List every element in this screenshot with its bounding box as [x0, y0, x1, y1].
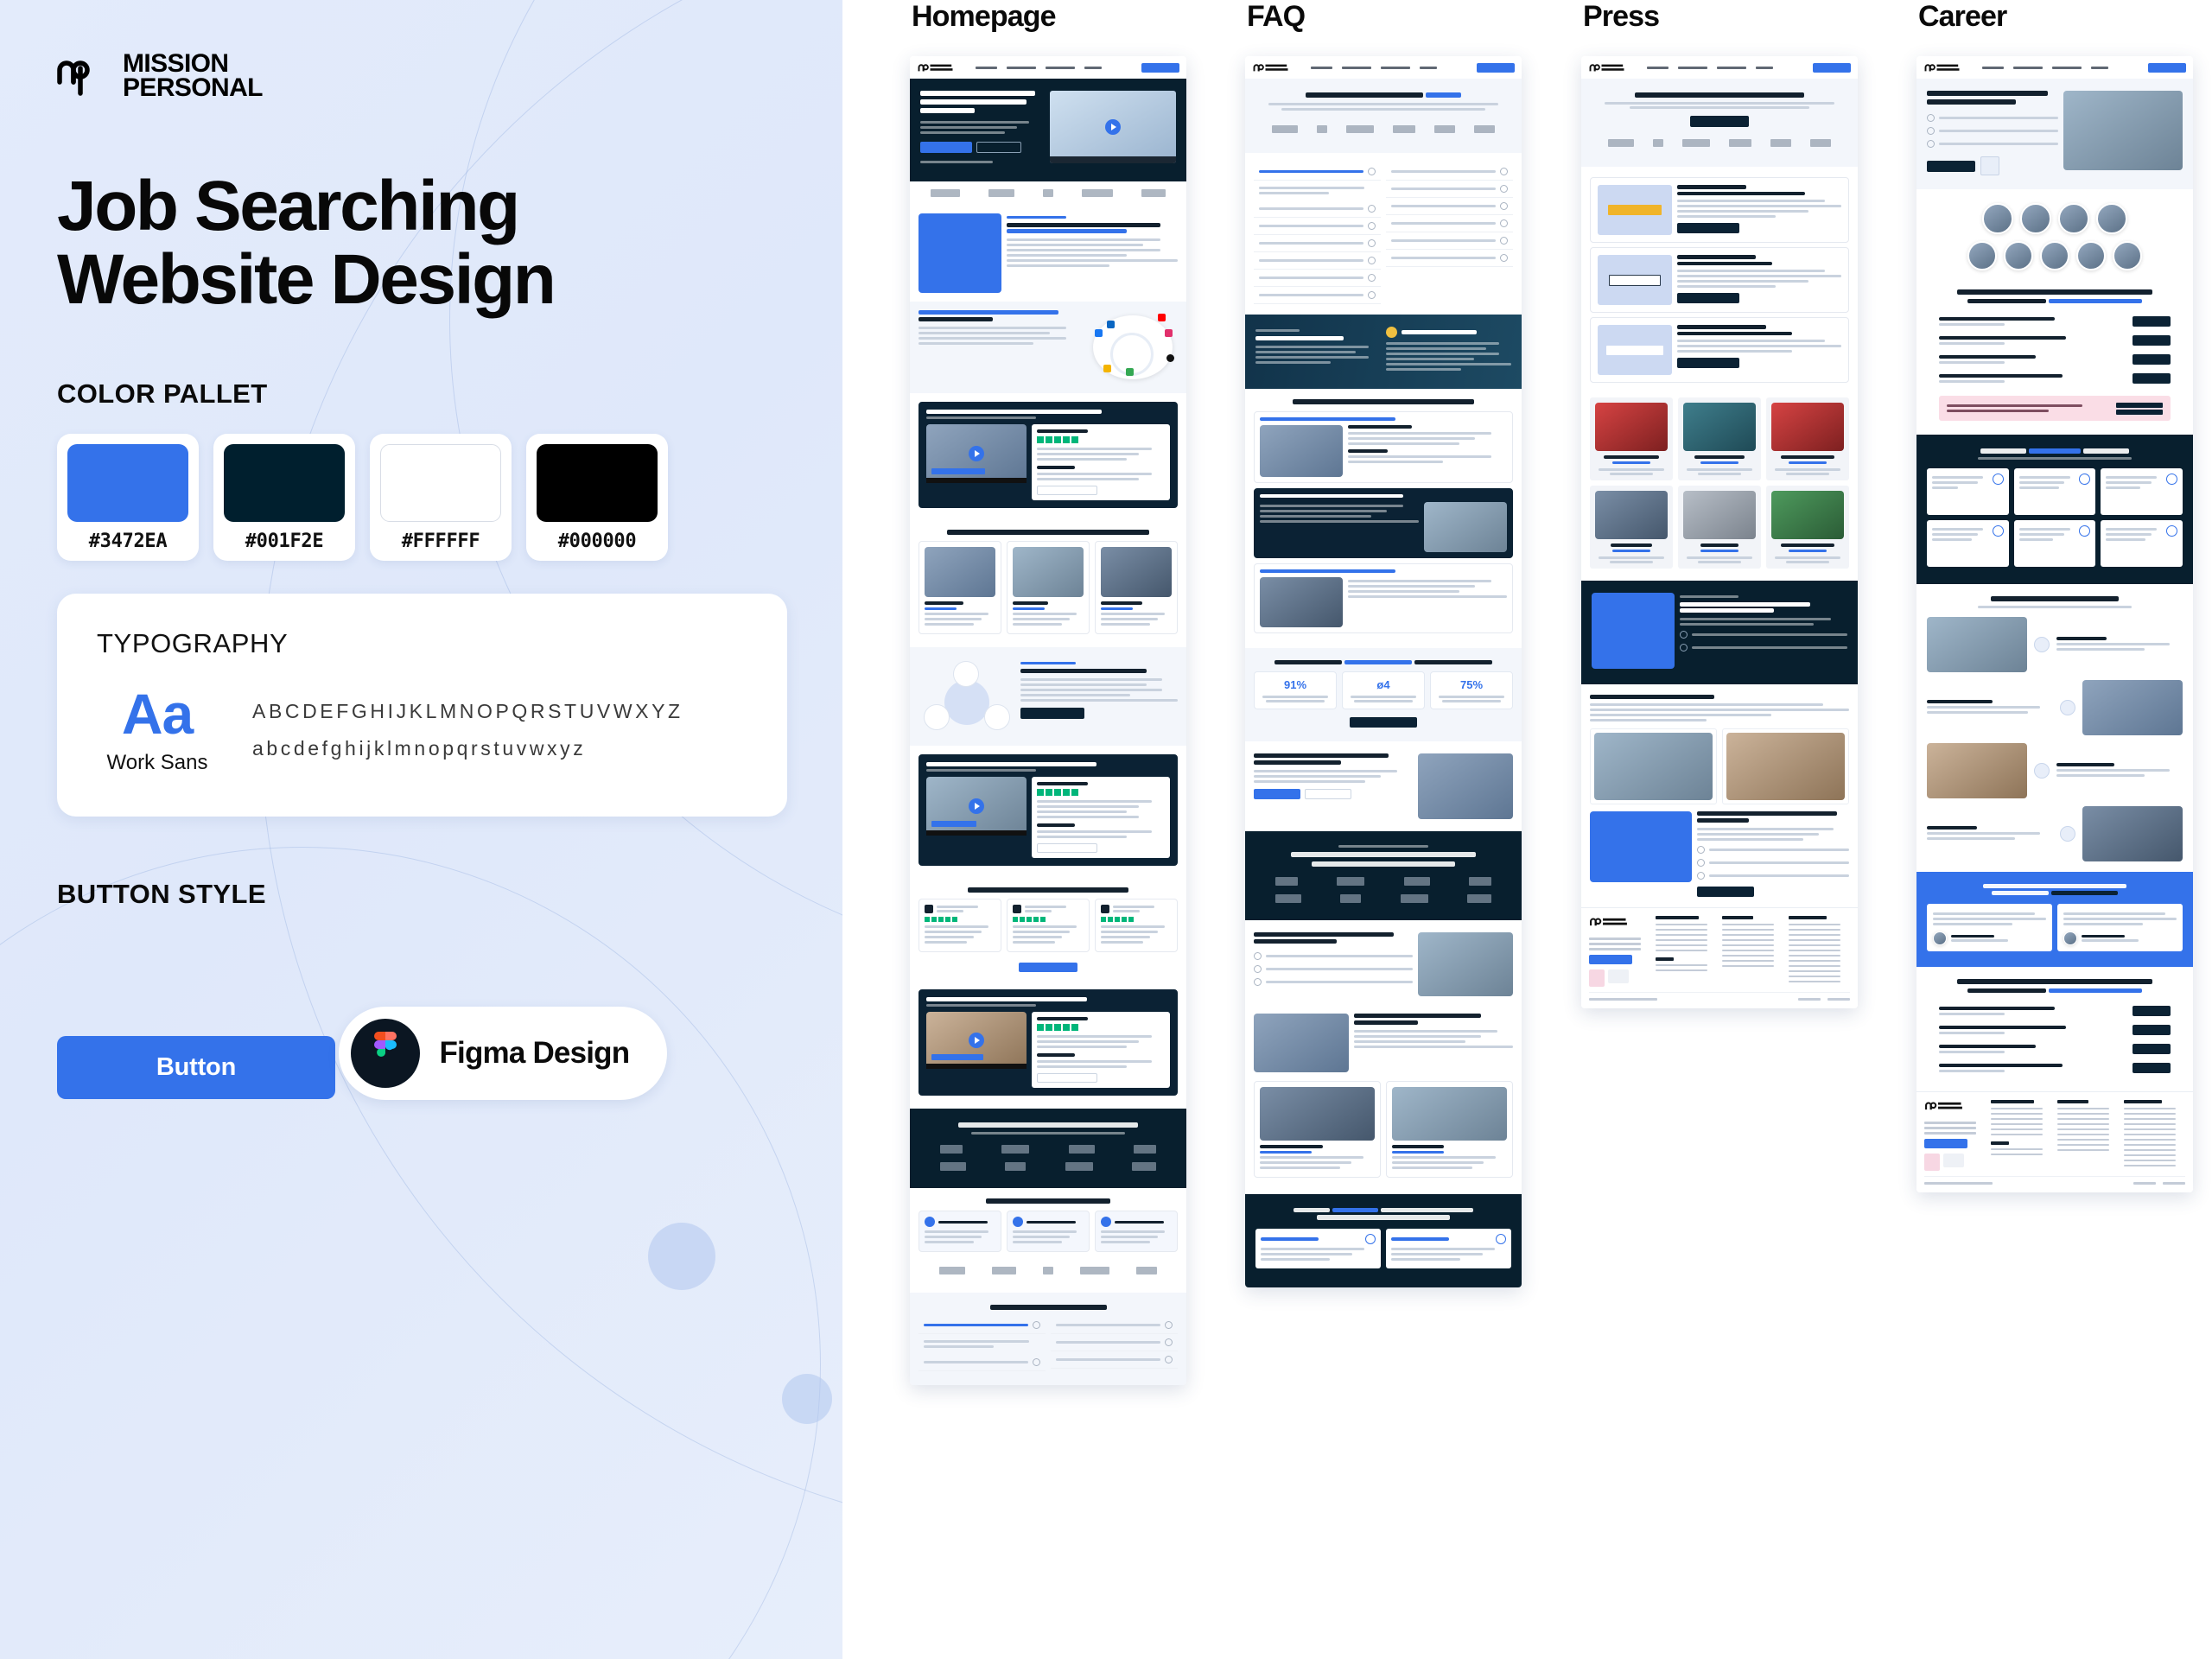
nav-link[interactable]: [976, 67, 997, 69]
venn-diagram: [918, 659, 1015, 734]
team-photo: [1101, 547, 1172, 597]
check-icon: [1927, 114, 1935, 122]
footer-legal-link[interactable]: [1827, 998, 1850, 1001]
value-row: [1927, 806, 2183, 861]
partner-logo: [988, 189, 1014, 197]
play-icon[interactable]: [1105, 119, 1121, 135]
mp-monogram-icon: [1924, 1100, 1964, 1112]
job-cta[interactable]: [2133, 354, 2171, 365]
job-title: [1939, 1045, 2036, 1049]
chevron-down-icon[interactable]: [1165, 1321, 1173, 1329]
screen-label-homepage: Homepage: [912, 0, 1186, 34]
calendar-icon: [925, 1217, 935, 1227]
font-name: Work Sans: [97, 751, 218, 775]
play-icon[interactable]: [969, 1033, 984, 1048]
client-logo: [1467, 894, 1491, 903]
avatar: [2063, 931, 2077, 945]
step-card[interactable]: [1095, 1211, 1178, 1252]
team-card[interactable]: [1095, 541, 1178, 634]
press-hero-cta[interactable]: [1690, 116, 1749, 127]
fair-photo-card: [1590, 728, 1717, 804]
value-icon: [2034, 763, 2050, 779]
reviewer-avatar: [1101, 905, 1109, 913]
magazine-cover: [1595, 491, 1668, 539]
press-article-cta[interactable]: [1677, 293, 1739, 303]
page-title-line-1: Job Searching: [57, 170, 748, 243]
client-logo: [1401, 894, 1428, 903]
press-contact-section: [1581, 581, 1858, 684]
mail-icon: [1680, 631, 1688, 639]
stats-cta[interactable]: [1350, 717, 1417, 728]
testimonial-video[interactable]: [926, 777, 1027, 836]
color-swatch[interactable]: #001F2E: [213, 434, 355, 561]
avatar: [2096, 203, 2127, 234]
guarantee-section: [1245, 315, 1522, 389]
faq-item[interactable]: [1051, 1351, 1178, 1369]
chevron-down-icon[interactable]: [1033, 1358, 1040, 1366]
partner-logo: [931, 189, 960, 197]
footer-legal-link[interactable]: [1798, 998, 1821, 1001]
testimonial-video[interactable]: [926, 1012, 1027, 1069]
magazine-issue: [1700, 461, 1738, 464]
site-footer: [1916, 1091, 2193, 1192]
faq-item[interactable]: [918, 1354, 1046, 1371]
chevron-down-icon[interactable]: [1500, 237, 1508, 245]
value-icon: [2034, 637, 2050, 652]
faq-item[interactable]: [1386, 163, 1513, 181]
analysis-photo: [1418, 753, 1513, 819]
mp-monogram-icon: [1589, 916, 1629, 928]
color-swatch-chip: [537, 444, 658, 522]
offer-card: [1927, 520, 2009, 567]
footer-links-about: [1656, 916, 1717, 987]
chevron-down-icon[interactable]: [1500, 168, 1508, 175]
team-name: [1101, 601, 1142, 605]
jobs-section-bottom: [1916, 967, 2193, 1091]
reason-card: [1386, 1229, 1511, 1268]
value-row: [1927, 680, 2183, 735]
color-swatch[interactable]: #FFFFFF: [370, 434, 512, 561]
footer-links-about: [1991, 1100, 2052, 1171]
nav-link[interactable]: [1647, 67, 1669, 69]
footer-links-quicklinks: [1722, 916, 1783, 987]
client-logo: [940, 1162, 966, 1171]
chevron-down-icon[interactable]: [1368, 291, 1376, 299]
team-card[interactable]: [1007, 541, 1090, 634]
stat-card: 75%: [1430, 671, 1513, 709]
job-row[interactable]: [1939, 331, 2171, 350]
analysis-primary-cta[interactable]: [1254, 789, 1300, 799]
stat-value: 75%: [1435, 678, 1508, 691]
chevron-down-icon[interactable]: [1368, 168, 1376, 175]
about-section: [1245, 1008, 1522, 1194]
hero-video[interactable]: [1050, 91, 1176, 163]
chevron-down-icon[interactable]: [1368, 274, 1376, 282]
alphabet-lowercase: abcdefghijklmnopqrstuvwxyz: [252, 737, 683, 760]
magazine-card[interactable]: [1590, 397, 1673, 480]
chevron-down-icon[interactable]: [1500, 185, 1508, 193]
nav-link[interactable]: [1420, 67, 1437, 69]
speaker-name-badge: [931, 1054, 983, 1060]
color-swatch-chip: [380, 444, 501, 522]
nav-cta-button[interactable]: [1813, 63, 1851, 73]
mockup-faq[interactable]: 91% ø4 75%: [1245, 56, 1522, 1287]
award-badge: [1608, 969, 1629, 983]
nav-link[interactable]: [1311, 67, 1332, 69]
color-swatch-list: #3472EA #001F2E #FFFFFF #000000: [57, 434, 842, 561]
offer-section: [1916, 435, 2193, 584]
partner-logo-strip: [910, 181, 1186, 205]
avatar: [2004, 241, 2033, 270]
client-logo: [1065, 1162, 1093, 1171]
magazine-issue: [1789, 461, 1827, 464]
award-badge: [1589, 969, 1605, 987]
offer-card: [2014, 468, 2096, 515]
job-cta[interactable]: [2133, 373, 2171, 384]
case-photo: [1424, 502, 1507, 552]
magazine-card[interactable]: [1678, 397, 1761, 480]
job-row[interactable]: [1939, 312, 2171, 331]
promise-section: [910, 647, 1186, 746]
button-style-heading: BUTTON STYLE: [57, 879, 842, 910]
footer-links-services: [1789, 916, 1850, 987]
color-swatch-label: #3472EA: [67, 531, 188, 552]
faq-item[interactable]: [1254, 200, 1381, 218]
reviews-section: [910, 879, 1186, 981]
report-cover: [1590, 811, 1692, 882]
nav-cta-button[interactable]: [1477, 63, 1515, 73]
mp-monogram-icon: [57, 56, 114, 96]
faq-item[interactable]: [1386, 250, 1513, 267]
partner-logo: [1141, 189, 1166, 197]
figma-design-badge[interactable]: Figma Design: [339, 1007, 667, 1100]
faq-item[interactable]: [1386, 198, 1513, 215]
testimonial-cta[interactable]: [1037, 843, 1097, 853]
avatar: [1933, 931, 1947, 945]
job-row[interactable]: [1939, 1058, 2171, 1077]
potential-analysis-section: [1245, 741, 1522, 831]
job-title: [1939, 317, 2055, 321]
reason-card: [1255, 1229, 1381, 1268]
press-article-cta[interactable]: [1677, 358, 1739, 368]
press-article-subtitle: [1677, 192, 1805, 195]
sample-button[interactable]: Button: [57, 1036, 335, 1099]
person-card[interactable]: [1254, 1081, 1381, 1178]
offer-card: [2101, 468, 2183, 515]
step-card[interactable]: [918, 1211, 1001, 1252]
faq-teaser-section: [910, 1293, 1186, 1385]
color-palette-heading: COLOR PALLET: [57, 378, 842, 410]
nav-link[interactable]: [1678, 67, 1707, 69]
screens-gallery: Homepage: [842, 0, 2212, 1659]
magazine-cover: [1771, 403, 1844, 451]
copyright: [1924, 1182, 1993, 1185]
person-photo: [1260, 1087, 1375, 1141]
step-card[interactable]: [1007, 1211, 1090, 1252]
nav-link[interactable]: [1007, 67, 1036, 69]
offer-icon: [2166, 525, 2177, 537]
reviews-cta[interactable]: [1019, 963, 1077, 972]
chevron-down-icon[interactable]: [1368, 257, 1376, 264]
testimonial-cta[interactable]: [1037, 1073, 1097, 1083]
check-icon: [1697, 872, 1705, 880]
mockup-homepage[interactable]: [910, 56, 1186, 1385]
magazine-cover: [1683, 403, 1756, 451]
client-logo: [1001, 1145, 1029, 1154]
copyright: [1589, 998, 1657, 1001]
review-card: [1095, 899, 1178, 952]
magazine-issue: [1612, 461, 1650, 464]
magazine-cover: [1771, 491, 1844, 539]
chevron-down-icon[interactable]: [1500, 202, 1508, 210]
career-hero-cta[interactable]: [1927, 161, 1975, 172]
mock-navbar[interactable]: [1581, 56, 1858, 79]
review-card: [918, 899, 1001, 952]
job-row[interactable]: [1939, 1039, 2171, 1058]
core-values-section: [1916, 584, 2193, 872]
nav-link[interactable]: [2052, 67, 2082, 69]
testimonial-section: [910, 393, 1186, 521]
fair-photo: [1726, 733, 1845, 800]
faq-item[interactable]: [1386, 232, 1513, 250]
job-row[interactable]: [1939, 1001, 2171, 1020]
report-cta[interactable]: [1697, 887, 1754, 897]
chevron-down-icon[interactable]: [1500, 254, 1508, 262]
check-icon: [1254, 978, 1262, 986]
press-article-card[interactable]: [1590, 177, 1849, 243]
job-cta[interactable]: [2133, 1025, 2171, 1035]
faq-item[interactable]: [1386, 215, 1513, 232]
case-photo: [1260, 577, 1343, 627]
page-title: Job Searching Website Design: [57, 170, 748, 316]
faq-item[interactable]: [1254, 287, 1381, 304]
client-logo: [1134, 1145, 1156, 1154]
mock-navbar[interactable]: [910, 56, 1186, 79]
stats-section: 91% ø4 75%: [1245, 648, 1522, 741]
press-article-title: [1677, 185, 1746, 189]
nav-link[interactable]: [2013, 67, 2043, 69]
offer-icon: [2079, 525, 2090, 537]
fair-photo-card: [1722, 728, 1849, 804]
partner-logo: [1082, 189, 1113, 197]
faq-item[interactable]: [1254, 252, 1381, 270]
hero-secondary-button[interactable]: [976, 142, 1021, 153]
nav-link[interactable]: [1084, 67, 1102, 69]
team-card[interactable]: [918, 541, 1001, 634]
testimonial-section-2: [910, 746, 1186, 879]
screen-label-faq: FAQ: [1247, 0, 1522, 34]
fair-section: [1581, 684, 1858, 907]
offer-card: [2101, 520, 2183, 567]
award-badge: [1924, 1154, 1940, 1171]
footer-legal-link[interactable]: [2133, 1182, 2156, 1185]
screen-label-career: Career: [1918, 0, 2193, 34]
check-icon: [1927, 140, 1935, 148]
press-articles-section: [1581, 167, 1858, 392]
value-photo: [2082, 680, 2183, 735]
team-section: [910, 521, 1186, 647]
job-row[interactable]: [1939, 369, 2171, 388]
mockup-career[interactable]: [1916, 56, 2193, 1192]
testimonial-card: [2057, 904, 2183, 951]
chevron-down-icon[interactable]: [1165, 1356, 1173, 1363]
faq-item[interactable]: [918, 1317, 1046, 1334]
typography-card: TYPOGRAPHY Aa Work Sans ABCDEFGHIJKLMNOP…: [57, 594, 787, 817]
magazine-issue: [1789, 550, 1827, 552]
job-cta[interactable]: [2133, 1044, 2171, 1054]
nav-link[interactable]: [1381, 67, 1410, 69]
job-cta[interactable]: [2133, 1063, 2171, 1073]
report-title: [1697, 811, 1837, 816]
mockup-press[interactable]: [1581, 56, 1858, 1008]
mock-nav-links[interactable]: [976, 67, 1102, 69]
reviewer-avatar: [925, 905, 933, 913]
nav-link[interactable]: [1342, 67, 1371, 69]
value-photo: [1927, 617, 2027, 672]
magazine-card[interactable]: [1766, 397, 1849, 480]
font-sample: Aa Work Sans: [97, 685, 218, 775]
chevron-down-icon[interactable]: [1368, 239, 1376, 247]
stat-card: ø4: [1342, 671, 1425, 709]
faq-item[interactable]: [1254, 270, 1381, 287]
color-swatch-label: #FFFFFF: [380, 531, 501, 552]
testimonial-cta[interactable]: [1037, 486, 1097, 495]
offer-icon: [1993, 474, 2004, 485]
mock-navbar[interactable]: [1916, 56, 2193, 79]
client-logo: [1404, 877, 1430, 886]
logo-wall-section: [1245, 831, 1522, 920]
feature-section: [910, 205, 1186, 302]
team-photo: [925, 547, 995, 597]
press-article-cta[interactable]: [1677, 223, 1739, 233]
radial-diagram: [1088, 310, 1178, 385]
nav-link[interactable]: [2091, 67, 2108, 69]
nav-cta-button[interactable]: [2148, 63, 2186, 73]
play-icon[interactable]: [969, 446, 984, 461]
headhunting-section: [910, 302, 1186, 393]
nav-link[interactable]: [1046, 67, 1075, 69]
person-card[interactable]: [1386, 1081, 1513, 1178]
faq-item[interactable]: [1051, 1317, 1178, 1334]
hero-primary-button[interactable]: [920, 142, 972, 153]
speaker-name-badge: [931, 468, 985, 474]
next-steps-section: [910, 1188, 1186, 1293]
magazine-card[interactable]: [1678, 486, 1761, 569]
magazine-title: [1604, 455, 1659, 459]
testimonial-video[interactable]: [926, 424, 1027, 483]
chevron-down-icon[interactable]: [1368, 222, 1376, 230]
logo-line-1: MISSION: [123, 52, 263, 76]
nav-cta-button[interactable]: [1141, 63, 1179, 73]
avatar: [1982, 203, 2013, 234]
rocket-icon: [1101, 1217, 1111, 1227]
job-row[interactable]: [1939, 350, 2171, 369]
mp-monogram-icon: [1252, 62, 1290, 73]
faq-item[interactable]: [1254, 163, 1381, 181]
press-article-subtitle: [1677, 332, 1792, 335]
magazine-title: [1781, 543, 1834, 547]
about-photo: [1254, 1014, 1349, 1072]
analysis-secondary-cta[interactable]: [1305, 789, 1351, 799]
faq-item[interactable]: [1386, 181, 1513, 198]
value-icon: [2060, 700, 2075, 715]
job-row[interactable]: [1939, 1020, 2171, 1039]
feature-icon: [1365, 1234, 1376, 1244]
screen-column-homepage: Homepage: [910, 0, 1186, 1385]
magazine-grid: [1581, 392, 1858, 581]
press-thumbnail: [1598, 255, 1672, 305]
contact-photo: [1592, 593, 1675, 669]
footer-cta[interactable]: [1589, 955, 1632, 964]
faq-item[interactable]: [1051, 1334, 1178, 1351]
magazine-card[interactable]: [1766, 486, 1849, 569]
chevron-down-icon[interactable]: [1500, 219, 1508, 227]
chevron-down-icon[interactable]: [1165, 1338, 1173, 1346]
faq-item[interactable]: [1254, 218, 1381, 235]
press-article-subtitle: [1677, 262, 1772, 265]
fair-heading: [1590, 695, 1714, 699]
job-cta[interactable]: [2133, 335, 2171, 346]
magazine-card[interactable]: [1590, 486, 1673, 569]
success-stories-section: [1245, 389, 1522, 648]
value-title: [2056, 637, 2107, 640]
faq-item[interactable]: [1254, 235, 1381, 252]
press-article-card[interactable]: [1590, 247, 1849, 313]
nav-link[interactable]: [1717, 67, 1746, 69]
job-cta[interactable]: [2133, 1006, 2171, 1016]
person-photo: [1392, 1087, 1507, 1141]
promise-cta[interactable]: [1020, 708, 1084, 719]
career-hero: [1916, 79, 2193, 189]
screen-label-press: Press: [1583, 0, 1858, 34]
mock-navbar[interactable]: [1245, 56, 1522, 79]
nav-link[interactable]: [1982, 67, 2004, 69]
offer-icon: [2166, 474, 2177, 485]
check-icon: [1697, 859, 1705, 867]
play-icon[interactable]: [969, 798, 984, 814]
figma-badge-label: Figma Design: [439, 1036, 629, 1071]
nav-link[interactable]: [1756, 67, 1773, 69]
system-photo: [1418, 932, 1513, 996]
team-name: [1013, 601, 1048, 605]
site-footer: [1581, 907, 1858, 1008]
font-sample-glyphs: Aa: [97, 685, 218, 742]
magazine-title: [1611, 543, 1651, 547]
job-title: [1939, 1007, 2055, 1011]
job-cta[interactable]: [2133, 316, 2171, 327]
offer-icon: [2079, 474, 2090, 485]
color-swatch[interactable]: #3472EA: [57, 434, 199, 561]
footer-links-services: [2124, 1100, 2185, 1171]
value-row: [1927, 743, 2183, 798]
value-title: [1927, 826, 1977, 829]
magazine-cover: [1683, 491, 1756, 539]
stat-card: 91%: [1254, 671, 1337, 709]
figma-logo-icon: [351, 1019, 420, 1088]
color-swatch[interactable]: #000000: [526, 434, 668, 561]
chevron-down-icon[interactable]: [1368, 205, 1376, 213]
team-name: [925, 601, 963, 605]
footer-legal-link[interactable]: [2163, 1182, 2185, 1185]
client-logo: [1275, 877, 1298, 886]
typography-heading: TYPOGRAPHY: [97, 628, 747, 659]
chevron-down-icon[interactable]: [1033, 1321, 1040, 1329]
footer-cta[interactable]: [1924, 1139, 1967, 1148]
screen-column-faq: FAQ: [1245, 0, 1522, 1287]
press-thumbnail: [1598, 185, 1672, 235]
reviewer-avatar: [1013, 905, 1021, 913]
press-article-card[interactable]: [1590, 317, 1849, 383]
